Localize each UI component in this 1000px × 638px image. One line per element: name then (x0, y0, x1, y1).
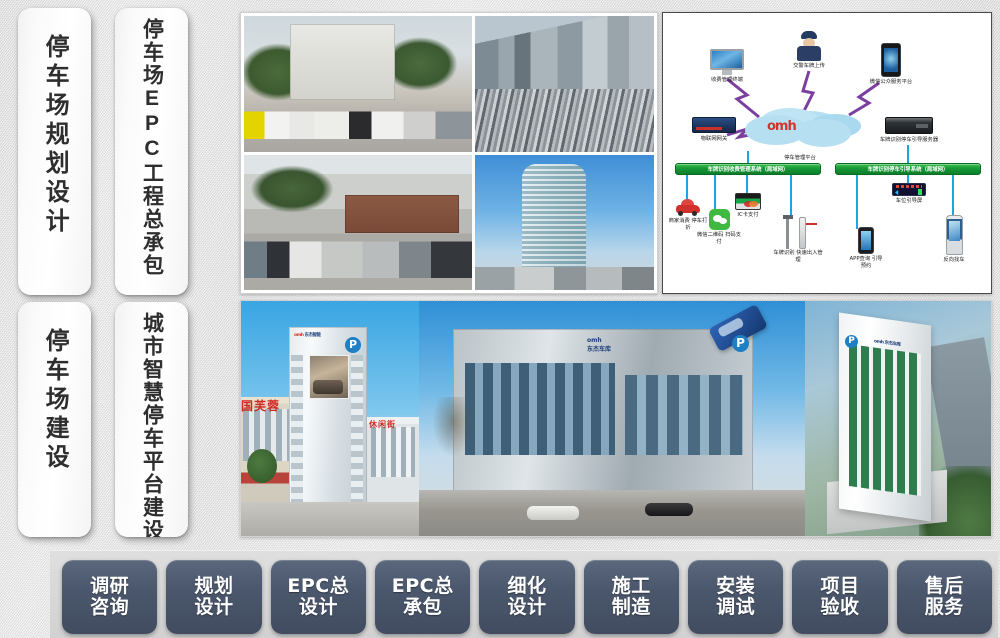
step-construction[interactable]: 施工 制造 (584, 560, 679, 634)
node-plate-recognition-guidance-server: 车牌识别停车引导服务器 (863, 117, 955, 144)
led-guidance-sign-icon (892, 183, 926, 196)
step-planning[interactable]: 规划 设计 (166, 560, 261, 634)
self-service-kiosk-icon (946, 215, 963, 255)
node-label: 车牌识别停车引导服务器 (863, 137, 955, 144)
step-research[interactable]: 调研 咨询 (62, 560, 157, 634)
category-card-label: 停车场规划设计 (42, 8, 67, 237)
glass-curtain-wall (465, 363, 615, 455)
police-officer-icon (796, 31, 822, 61)
facade-stripe-left (291, 355, 303, 503)
facade-stripe-right (351, 355, 363, 503)
network-gateway-icon (692, 117, 736, 133)
subsystem-label: 车牌识别停车引导系统（局域网） (868, 167, 949, 173)
window-grid (849, 344, 921, 496)
omh-logo: omh东杰智能 (293, 331, 320, 338)
ic-card-icon (735, 193, 761, 210)
omh-logo: omh (767, 119, 796, 134)
node-traffic-police-plate-upload: 交警车牌上传 (781, 31, 837, 70)
render-parking-garage: omh东杰车库 P (419, 301, 805, 536)
category-card-label: 停车场建设 (42, 302, 67, 473)
parking-p-badge: P (345, 337, 361, 353)
node-iot-gateway: 物联网网关 (683, 117, 745, 143)
smartphone-icon (881, 43, 901, 77)
side-building (367, 417, 419, 505)
feature-label: 反向找车 (938, 257, 970, 264)
parking-barrier-icon (783, 209, 813, 249)
category-card-label: 城市智慧停车平台建设 (140, 302, 162, 537)
feature-app-query-guidance-booking: APP查询 引导 预约 (849, 227, 883, 269)
render-aerial-tower: P omh东杰车库 (805, 301, 991, 536)
street-ground (241, 502, 419, 536)
service-category-column: 停车场规划设计 停车场EPC工程总承包 停车场建设 城市智慧停车平台建设 (0, 0, 205, 545)
cloud-platform-icon: omh (745, 107, 853, 151)
glass-curtain-wall-right (625, 375, 743, 455)
street-tree (247, 449, 277, 483)
omh-logo: omh东杰车库 (587, 337, 611, 353)
category-card-label: 停车场EPC工程总承包 (140, 8, 162, 277)
feature-ic-card-payment: IC卡支付 (729, 193, 767, 219)
feature-reverse-car-finding: 反向找车 (938, 215, 970, 264)
feature-label: 车牌识别 快速出入管理 (773, 250, 823, 263)
street-sign-right: 休闲街 (369, 419, 396, 430)
render-parking-tower: omh东杰智能 P 国芙蓉 休闲街 (241, 301, 419, 536)
category-card-epc-contracting[interactable]: 停车场EPC工程总承包 (115, 8, 188, 295)
feature-parking-space-guidance-screen: 车位引导屏 (891, 183, 927, 205)
node-wechat-public-service-platform: 微信公众服务平台 (859, 43, 923, 86)
step-detailed-design[interactable]: 细化 设计 (479, 560, 574, 634)
parking-p-badge: P (845, 335, 858, 348)
architectural-render-strip: omh东杰智能 P 国芙蓉 休闲街 omh东杰车库 P P omh东杰车库 (240, 300, 992, 537)
photo-parking-lot-brick-building (244, 155, 472, 291)
photo-surface-parking-lot-with-trees (244, 16, 472, 152)
project-photo-collage (240, 12, 658, 294)
white-car (527, 506, 579, 520)
wechat-icon (709, 209, 730, 230)
project-process-steps: 调研 咨询 规划 设计 EPC总 设计 EPC总 承包 细化 设计 施工 制造 … (62, 560, 992, 634)
node-charge-management-terminal: 收费管理终端 (697, 49, 757, 84)
node-label: 交警车牌上传 (781, 63, 837, 70)
parking-p-badge: P (732, 335, 749, 352)
mobile-app-icon (858, 227, 874, 254)
dark-car (645, 503, 693, 516)
photo-glass-office-tower (475, 155, 654, 291)
node-label: 收费管理终端 (697, 77, 757, 84)
facade-billboard (309, 355, 349, 399)
smart-parking-system-diagram: omh 停车管理平台 收费管理终端 交警车牌上传 微信公众服务平台 物联网网关 … (662, 12, 992, 294)
step-acceptance[interactable]: 项目 验收 (792, 560, 887, 634)
bare-tree (431, 397, 475, 459)
feature-label: APP查询 引导 预约 (849, 256, 883, 269)
node-label: 微信公众服务平台 (859, 79, 923, 86)
feature-label: 车位引导屏 (891, 198, 927, 205)
category-card-smart-platform[interactable]: 城市智慧停车平台建设 (115, 302, 188, 537)
feature-label: 微信二维码 扫码支付 (695, 232, 743, 245)
step-epc-design[interactable]: EPC总 设计 (271, 560, 366, 634)
monitor-icon (710, 49, 744, 75)
rack-server-icon (885, 117, 933, 134)
step-installation[interactable]: 安装 调试 (688, 560, 783, 634)
category-card-parking-construction[interactable]: 停车场建设 (18, 302, 91, 537)
photo-aerial-view-city-parking (475, 16, 654, 152)
street-ground (419, 490, 805, 536)
node-label: 停车管理平台 (755, 155, 845, 162)
subsystem-label: 车牌识别收费管理系统（局域网） (708, 167, 789, 173)
node-label: 物联网网关 (683, 136, 745, 143)
feature-plate-fast-access: 车牌识别 快速出入管理 (773, 209, 823, 263)
step-after-sales[interactable]: 售后 服务 (897, 560, 992, 634)
node-parking-management-platform: 停车管理平台 (755, 155, 845, 162)
subsystem-parking-guidance-system: 车牌识别停车引导系统（局域网） (835, 163, 981, 175)
step-epc-contract[interactable]: EPC总 承包 (375, 560, 470, 634)
feature-label: IC卡支付 (729, 212, 767, 219)
street-sign-left: 国芙蓉 (241, 397, 280, 414)
subsystem-charge-management-system: 车牌识别收费管理系统（局域网） (675, 163, 821, 175)
category-card-parking-planning[interactable]: 停车场规划设计 (18, 8, 91, 295)
